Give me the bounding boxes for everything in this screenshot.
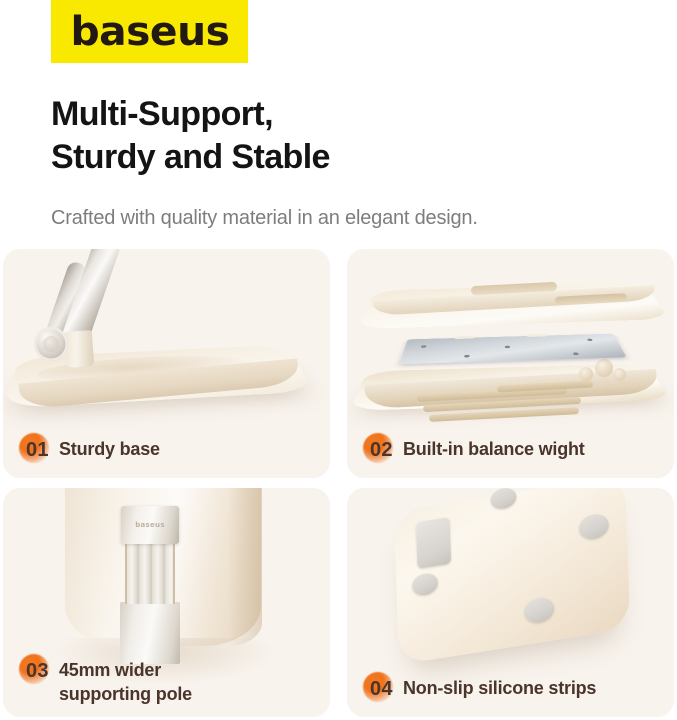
feature-number-02: 02 (370, 437, 393, 464)
feature-number-wrap-01: 01 (19, 437, 59, 464)
feature-label-03: 03 45mm wider supporting pole (19, 658, 192, 707)
product-feature-page: baseus Multi-Support, Sturdy and Stable … (0, 0, 677, 720)
brand-logo-badge: baseus (51, 0, 248, 63)
feature-caption-04: Non-slip silicone strips (403, 676, 596, 701)
silicone-strip (416, 517, 451, 569)
feature-number-01: 01 (26, 437, 49, 464)
feature-number-03: 03 (26, 658, 49, 685)
feature-label-01: 01 Sturdy base (19, 437, 160, 464)
supporting-pole-middle (125, 542, 175, 604)
supporting-pole-lower (120, 602, 180, 664)
feature-card-01: 01 Sturdy base (3, 249, 330, 478)
feature-number-wrap-04: 04 (363, 676, 403, 703)
hinge-post (64, 330, 94, 368)
silicone-pad (524, 596, 554, 625)
hinge-knuckle (34, 327, 68, 361)
silicone-pad (412, 572, 438, 597)
feature-card-04: 04 Non-slip silicone strips (347, 488, 674, 717)
feature-card-02: 02 Built-in balance wight (347, 249, 674, 478)
silicone-pad (490, 488, 516, 511)
brand-wordmark: baseus (70, 12, 229, 52)
feature-card-grid: 01 Sturdy base (3, 249, 674, 717)
feature-number-04: 04 (370, 676, 393, 703)
feature-label-02: 02 Built-in balance wight (363, 437, 585, 464)
supporting-pole-upper: baseus (121, 506, 179, 544)
pole-brand-logo: baseus (135, 521, 165, 529)
feature-card-03: baseus 03 45mm wider supporting pole (3, 488, 330, 717)
feature-number-wrap-02: 02 (363, 437, 403, 464)
page-title: Multi-Support, Sturdy and Stable (51, 93, 651, 179)
feature-caption-01: Sturdy base (59, 437, 160, 462)
feature-caption-03: 45mm wider supporting pole (59, 658, 192, 707)
silicone-pad (579, 512, 609, 541)
page-subtitle: Crafted with quality material in an eleg… (51, 205, 661, 231)
feature-caption-02: Built-in balance wight (403, 437, 585, 462)
base-underside-body (394, 488, 630, 665)
hinge-gear-cluster (579, 359, 633, 385)
feature-number-wrap-03: 03 (19, 658, 59, 685)
feature-label-04: 04 Non-slip silicone strips (363, 676, 596, 703)
